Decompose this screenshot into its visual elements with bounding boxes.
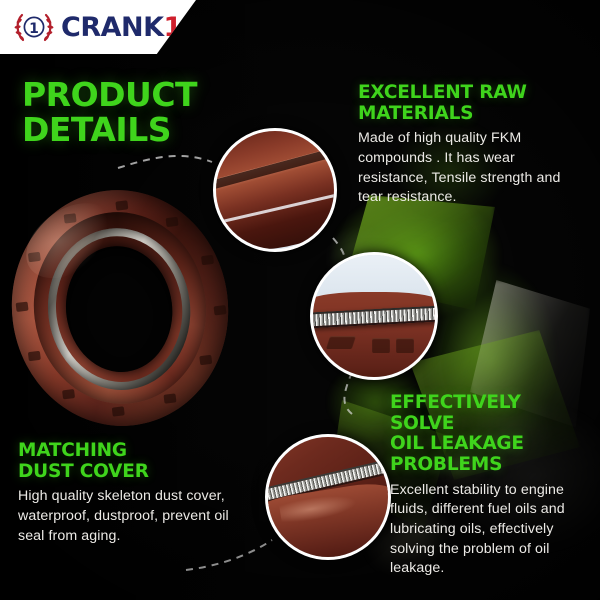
product-oil-seal-image — [0, 178, 242, 439]
zoom2-seal-body — [310, 292, 438, 380]
callout-title-raw-materials: EXCELLENT RAW MATERIALS — [358, 83, 584, 124]
leader-line-top — [118, 156, 212, 168]
brand-wordmark: CRANK1 — [61, 14, 182, 41]
callout-oil-leakage: EFFECTIVELY SOLVE OIL LEAKAGE PROBLEMS E… — [390, 393, 590, 579]
leader-line-mid-to-bottom — [344, 372, 352, 414]
zoom-circle-garter-spring — [310, 252, 438, 380]
infographic-canvas: 1 CRANK1 PRODUCT DETAILS EXCELLENT RAW M… — [0, 0, 600, 600]
svg-text:1: 1 — [29, 21, 39, 37]
callout-title-dust-cover: MATCHING DUST COVER — [18, 441, 230, 482]
zoom2-emboss-mark-1 — [326, 336, 356, 349]
zoom1-rubber-band — [213, 128, 337, 252]
page-title: PRODUCT DETAILS — [22, 78, 197, 147]
zoom-circle-raw-material — [213, 128, 337, 252]
callout-excellent-raw-materials: EXCELLENT RAW MATERIALS Made of high qua… — [358, 83, 584, 208]
callout-body-oil-leakage: Excellent stability to engine fluids, di… — [390, 481, 590, 579]
callout-body-dust-cover: High quality skeleton dust cover, waterp… — [18, 487, 230, 546]
zoom-circle-dust-cover-lip — [265, 434, 391, 560]
brand-name-main: CRANK — [61, 14, 164, 41]
zoom2-emboss-mark-2 — [372, 338, 390, 353]
zoom2-emboss-mark-3 — [396, 338, 414, 353]
callout-matching-dust-cover: MATCHING DUST COVER High quality skeleto… — [18, 441, 230, 546]
callout-body-raw-materials: Made of high quality FKM compounds . It … — [358, 129, 584, 207]
callout-title-oil-leakage: EFFECTIVELY SOLVE OIL LEAKAGE PROBLEMS — [390, 393, 590, 476]
brand-name-accent: 1 — [164, 14, 182, 41]
laurel-wreath-icon: 1 — [14, 9, 54, 45]
brand-logo-banner[interactable]: 1 CRANK1 — [0, 0, 196, 54]
